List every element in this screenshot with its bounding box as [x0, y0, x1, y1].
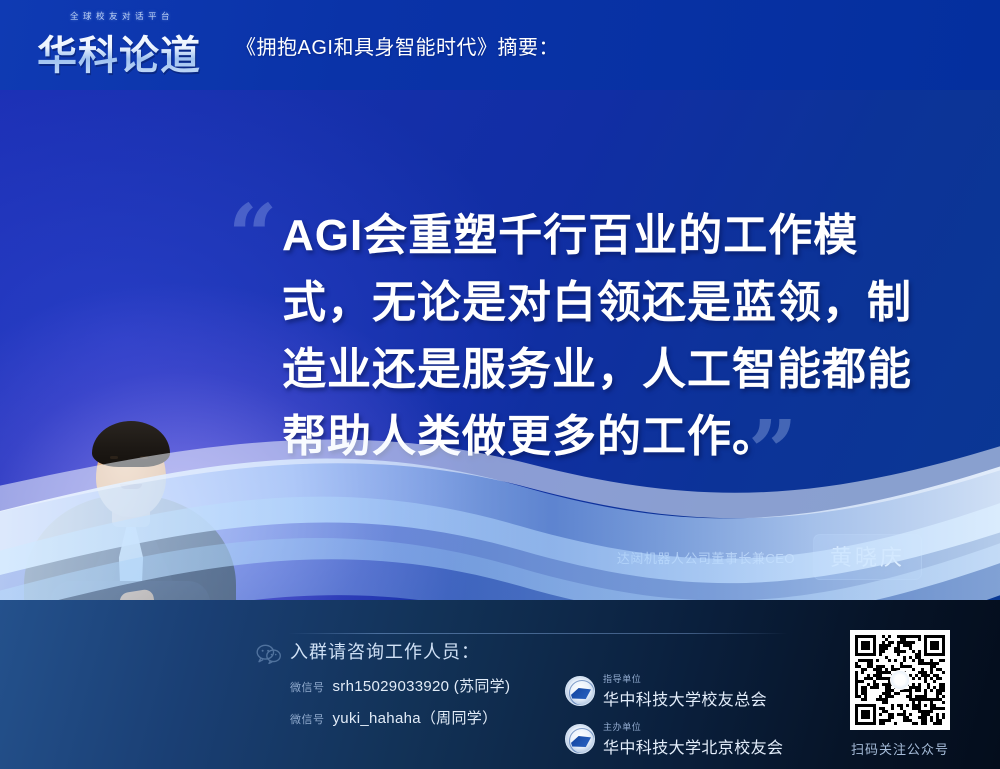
contact-block: 入群请咨询工作人员： 微信号 srh15029033920 (苏同学) 微信号 … [290, 638, 510, 739]
university-seal-icon [565, 724, 595, 754]
poster-root: 全球校友对话平台 华科论道 《拥抱AGI和具身智能时代》摘要： “ AGI会重塑… [0, 0, 1000, 769]
qr-block: 扫码关注公众号 [838, 630, 962, 758]
portrait-eye-left [110, 456, 118, 459]
contact-value[interactable]: yuki_hahaha（周同学） [333, 707, 498, 728]
footer-divider [288, 633, 788, 634]
logo-tagline: 全球校友对话平台 [30, 10, 214, 22]
wechat-icon [256, 644, 282, 664]
contact-label: 微信号 [290, 711, 325, 727]
speaker-portrait [24, 365, 236, 635]
qr-code-icon[interactable] [850, 630, 950, 730]
quote-line: 造业还是服务业，人工智能都能 [282, 336, 942, 403]
portrait-mouth [120, 484, 142, 489]
organizer-row: 指导单位 华中科技大学校友总会 [565, 672, 783, 710]
portrait-eye-right [140, 456, 148, 459]
page-title: 《拥抱AGI和具身智能时代》摘要： [236, 31, 559, 60]
brand-logo: 全球校友对话平台 华科论道 [24, 14, 214, 76]
quote-line: 帮助人类做更多的工作。 [282, 403, 942, 470]
university-seal-icon [565, 676, 595, 706]
quote-line: 式，无论是对白领还是蓝领，制 [282, 269, 942, 336]
main-stage: “ AGI会重塑千行百业的工作模 式，无论是对白领还是蓝领，制 造业还是服务业，… [0, 90, 1000, 635]
organizer-name: 华中科技大学校友总会 [603, 686, 767, 710]
speaker-name-badge: 黄晓庆 [813, 534, 922, 580]
quote-open-mark: “ [228, 194, 277, 280]
qr-center-logo [890, 670, 910, 690]
organizer-kind: 指导单位 [603, 672, 767, 685]
portrait-hair [92, 421, 170, 467]
contact-title: 入群请咨询工作人员： [290, 638, 510, 664]
quote-text: AGI会重塑千行百业的工作模 式，无论是对白领还是蓝领，制 造业还是服务业，人工… [282, 202, 942, 470]
logo-wordmark: 华科论道 [24, 23, 214, 81]
organizer-kind: 主办单位 [603, 720, 783, 733]
speaker-role: 达闼机器人公司董事长兼CEO [617, 548, 795, 567]
contact-row: 微信号 yuki_hahaha（周同学） [290, 707, 510, 728]
contact-value[interactable]: srh15029033920 (苏同学) [333, 675, 511, 696]
organizer-name: 华中科技大学北京校友会 [603, 734, 783, 758]
organizer-list: 指导单位 华中科技大学校友总会 主办单位 华中科技大学北京校友会 [565, 672, 783, 768]
contact-label: 微信号 [290, 679, 325, 695]
organizer-row: 主办单位 华中科技大学北京校友会 [565, 720, 783, 758]
contact-row: 微信号 srh15029033920 (苏同学) [290, 675, 510, 696]
attribution: 达闼机器人公司董事长兼CEO 黄晓庆 [617, 534, 922, 580]
quote-line: AGI会重塑千行百业的工作模 [282, 202, 942, 269]
qr-caption: 扫码关注公众号 [838, 739, 962, 758]
header-bar: 全球校友对话平台 华科论道 《拥抱AGI和具身智能时代》摘要： [0, 0, 1000, 90]
